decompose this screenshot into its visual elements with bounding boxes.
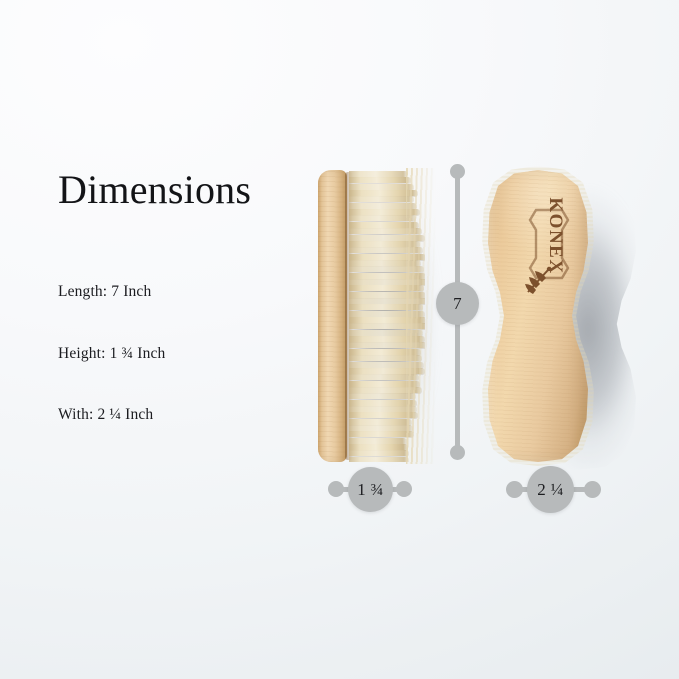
width-measure-badge: 2 ¼ (527, 466, 574, 513)
measurement-overlay: 7 1 ¾ 2 ¼ (0, 0, 679, 679)
width-endpoint-right-dot (584, 481, 601, 498)
height-measure-badge: 1 ¾ (348, 467, 393, 512)
height-endpoint-left-dot (328, 481, 344, 497)
length-endpoint-top-dot (450, 164, 465, 179)
width-endpoint-left-dot (506, 481, 523, 498)
height-endpoint-right-dot (396, 481, 412, 497)
infographic-canvas: Dimensions Length: 7 Inch Height: 1 ¾ In… (0, 0, 679, 679)
length-endpoint-bottom-dot (450, 445, 465, 460)
length-measure-badge: 7 (436, 282, 479, 325)
